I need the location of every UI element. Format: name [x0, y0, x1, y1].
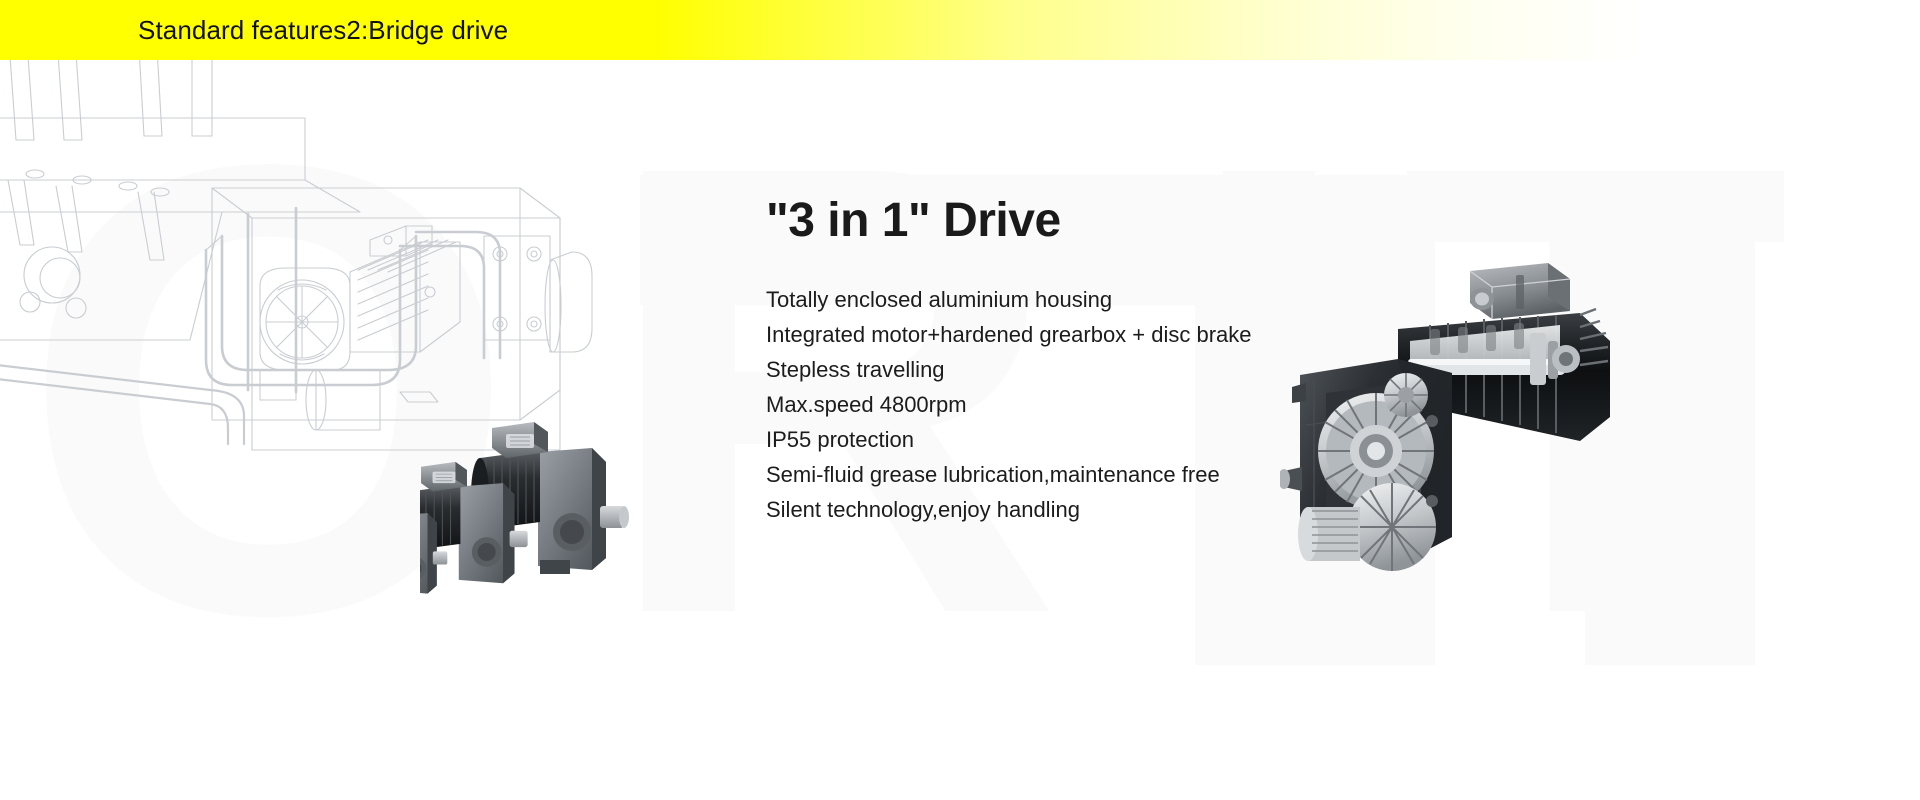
- spec-item: Totally enclosed aluminium housing: [766, 282, 1366, 317]
- drive-family-photo: [420, 410, 740, 640]
- spec-list: Totally enclosed aluminium housing Integ…: [766, 282, 1366, 527]
- feature-copy-block: "3 in 1" Drive Totally enclosed aluminiu…: [766, 196, 1366, 527]
- spec-item: Semi-fluid grease lubrication,maintenanc…: [766, 457, 1366, 492]
- spec-item: Silent technology,enjoy handling: [766, 492, 1366, 527]
- feature-title: "3 in 1" Drive: [766, 196, 1366, 246]
- page-title: Standard features2:Bridge drive: [138, 0, 508, 60]
- slide-root: O R I T: [0, 0, 1920, 800]
- spec-item: IP55 protection: [766, 422, 1366, 457]
- spec-item: Max.speed 4800rpm: [766, 387, 1366, 422]
- spec-item: Integrated motor+hardened grearbox + dis…: [766, 317, 1366, 352]
- spec-item: Stepless travelling: [766, 352, 1366, 387]
